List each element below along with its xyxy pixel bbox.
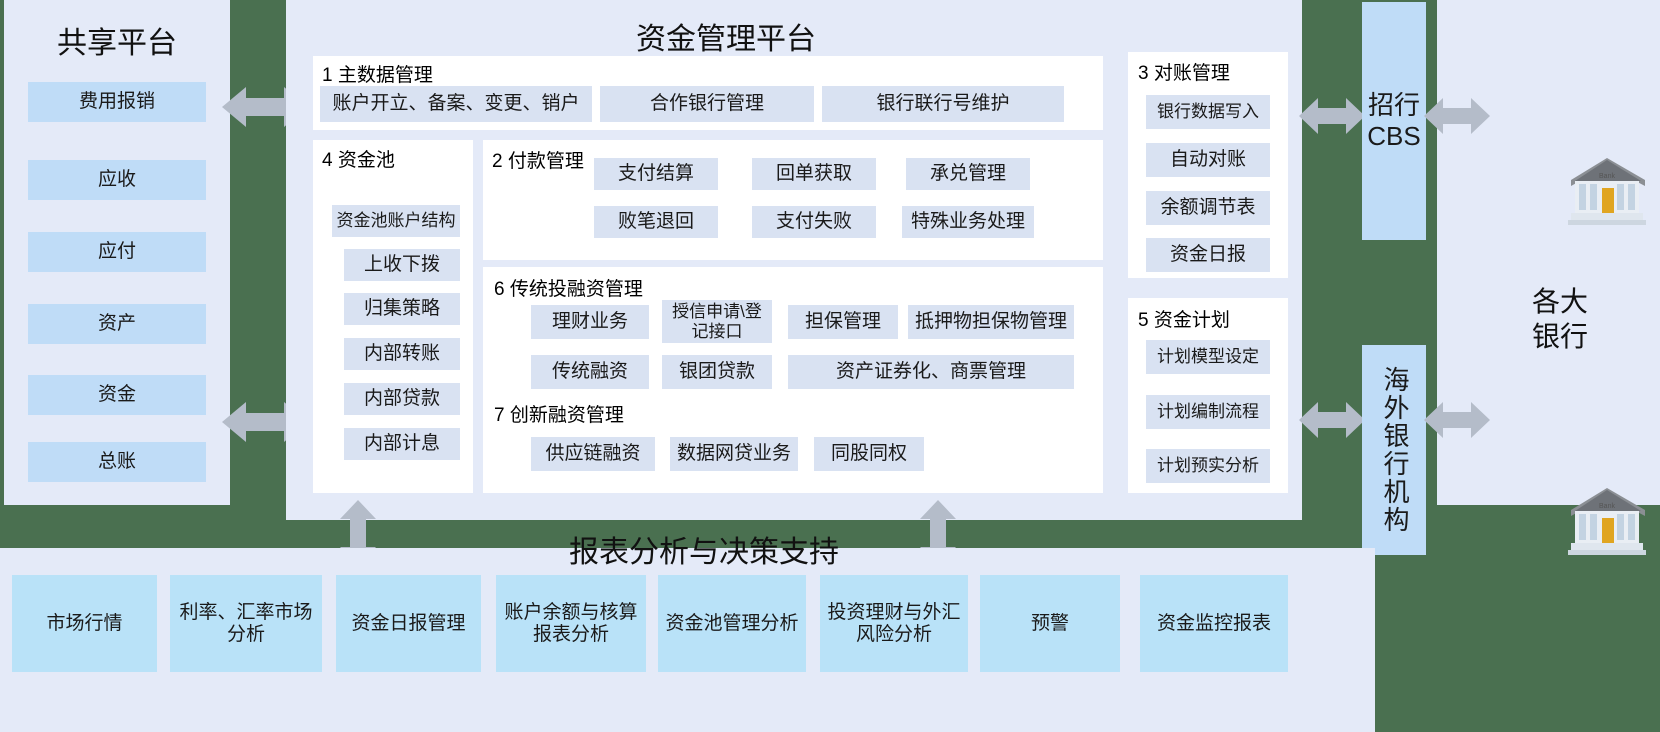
sidebar-item-1[interactable]: 应收 (28, 160, 206, 200)
payment-item-3[interactable]: 败笔退回 (594, 206, 718, 238)
payment-item-0[interactable]: 支付结算 (594, 158, 718, 190)
traditional-finance-item-6[interactable]: 资产证券化、商票管理 (788, 355, 1074, 389)
arrow-overseas-banks (1424, 400, 1490, 440)
fund-pool-item-0[interactable]: 资金池账户结构 (332, 205, 460, 237)
master-data-item-0[interactable]: 账户开立、备案、变更、销户 (320, 86, 592, 122)
master-data-item-1[interactable]: 合作银行管理 (600, 86, 814, 122)
svg-text:Bank: Bank (1599, 503, 1615, 510)
fund-pool-item-3[interactable]: 内部转账 (344, 338, 460, 370)
fund-plan-item-2[interactable]: 计划预实分析 (1146, 449, 1270, 483)
report-item-7[interactable]: 资金监控报表 (1140, 575, 1288, 672)
reconciliation-item-3[interactable]: 资金日报 (1146, 238, 1270, 272)
bank-building-icon-bottom: Bank (1565, 480, 1649, 560)
bank-building-icon-top: Bank (1565, 150, 1649, 230)
traditional-finance-item-0[interactable]: 理财业务 (531, 305, 649, 339)
innovative-finance-label: 7 创新融资管理 (494, 400, 624, 427)
sidebar-item-5[interactable]: 总账 (28, 442, 206, 482)
report-item-0[interactable]: 市场行情 (12, 575, 157, 672)
traditional-finance-item-4[interactable]: 传统融资 (531, 355, 649, 389)
report-item-4[interactable]: 资金池管理分析 (658, 575, 806, 672)
reconciliation-item-1[interactable]: 自动对账 (1146, 143, 1270, 177)
shared-platform-panel: 共享平台 费用报销 应收 应付 资产 资金 总账 (4, 0, 230, 505)
fund-pool-label: 4 资金池 (322, 145, 395, 172)
payment-item-2[interactable]: 承兑管理 (906, 158, 1030, 190)
traditional-finance-item-5[interactable]: 银团贷款 (662, 355, 772, 389)
arrow-cbs-banks (1424, 96, 1490, 136)
major-banks-line2: 银行 (1470, 319, 1650, 354)
major-banks-label: 各大 银行 (1470, 284, 1650, 354)
master-data-label: 1 主数据管理 (322, 60, 433, 87)
fund-pool-item-2[interactable]: 归集策略 (344, 293, 460, 325)
major-banks-line1: 各大 (1470, 284, 1650, 319)
fund-pool-item-5[interactable]: 内部计息 (344, 428, 460, 460)
diagram-root: 共享平台 费用报销 应收 应付 资产 资金 总账 资金管理平台 1 主数据管理 … (0, 0, 1660, 732)
fund-pool-item-1[interactable]: 上收下拨 (344, 249, 460, 281)
fund-pool-item-4[interactable]: 内部贷款 (344, 383, 460, 415)
report-item-1[interactable]: 利率、汇率市场分析 (170, 575, 322, 672)
payment-item-5[interactable]: 特殊业务处理 (902, 206, 1034, 238)
master-data-item-2[interactable]: 银行联行号维护 (822, 86, 1064, 122)
reconciliation-item-2[interactable]: 余额调节表 (1146, 191, 1270, 225)
reports-title: 报表分析与决策支持 (384, 527, 1024, 571)
arrow-platform-overseas (1299, 400, 1365, 440)
fund-plan-item-0[interactable]: 计划模型设定 (1146, 340, 1270, 374)
arrow-platform-cbs (1299, 96, 1365, 136)
payment-item-1[interactable]: 回单获取 (752, 158, 876, 190)
page-title: 资金管理平台 (286, 14, 1166, 58)
sidebar-item-3[interactable]: 资产 (28, 304, 206, 344)
report-item-3[interactable]: 账户余额与核算报表分析 (496, 575, 646, 672)
traditional-finance-label: 6 传统投融资管理 (494, 274, 643, 301)
cbs-label-line2: CBS (1367, 121, 1420, 152)
traditional-finance-item-1[interactable]: 授信申请\登记接口 (662, 300, 772, 343)
payment-label: 2 付款管理 (492, 146, 584, 173)
report-item-2[interactable]: 资金日报管理 (336, 575, 481, 672)
report-item-6[interactable]: 预警 (980, 575, 1120, 672)
svg-text:Bank: Bank (1599, 173, 1615, 180)
overseas-bank-label: 海外银行机构 (1379, 366, 1409, 534)
cbs-label-line1: 招行 (1368, 90, 1420, 121)
overseas-bank-box[interactable]: 海外银行机构 (1362, 345, 1426, 555)
traditional-finance-item-3[interactable]: 抵押物担保物管理 (908, 305, 1074, 339)
fund-plan-label: 5 资金计划 (1138, 305, 1230, 332)
sidebar-item-4[interactable]: 资金 (28, 375, 206, 415)
fund-plan-item-1[interactable]: 计划编制流程 (1146, 395, 1270, 429)
shared-platform-title: 共享平台 (4, 18, 230, 62)
innovative-finance-item-2[interactable]: 同股同权 (814, 437, 924, 471)
reconciliation-label: 3 对账管理 (1138, 58, 1230, 85)
reconciliation-item-0[interactable]: 银行数据写入 (1146, 95, 1270, 129)
innovative-finance-item-0[interactable]: 供应链融资 (531, 437, 655, 471)
payment-item-4[interactable]: 支付失败 (752, 206, 876, 238)
report-item-5[interactable]: 投资理财与外汇风险分析 (820, 575, 968, 672)
sidebar-item-0[interactable]: 费用报销 (28, 82, 206, 122)
cbs-box[interactable]: 招行 CBS (1362, 2, 1426, 240)
traditional-finance-item-2[interactable]: 担保管理 (788, 305, 898, 339)
innovative-finance-item-1[interactable]: 数据网贷业务 (670, 437, 798, 471)
sidebar-item-2[interactable]: 应付 (28, 232, 206, 272)
